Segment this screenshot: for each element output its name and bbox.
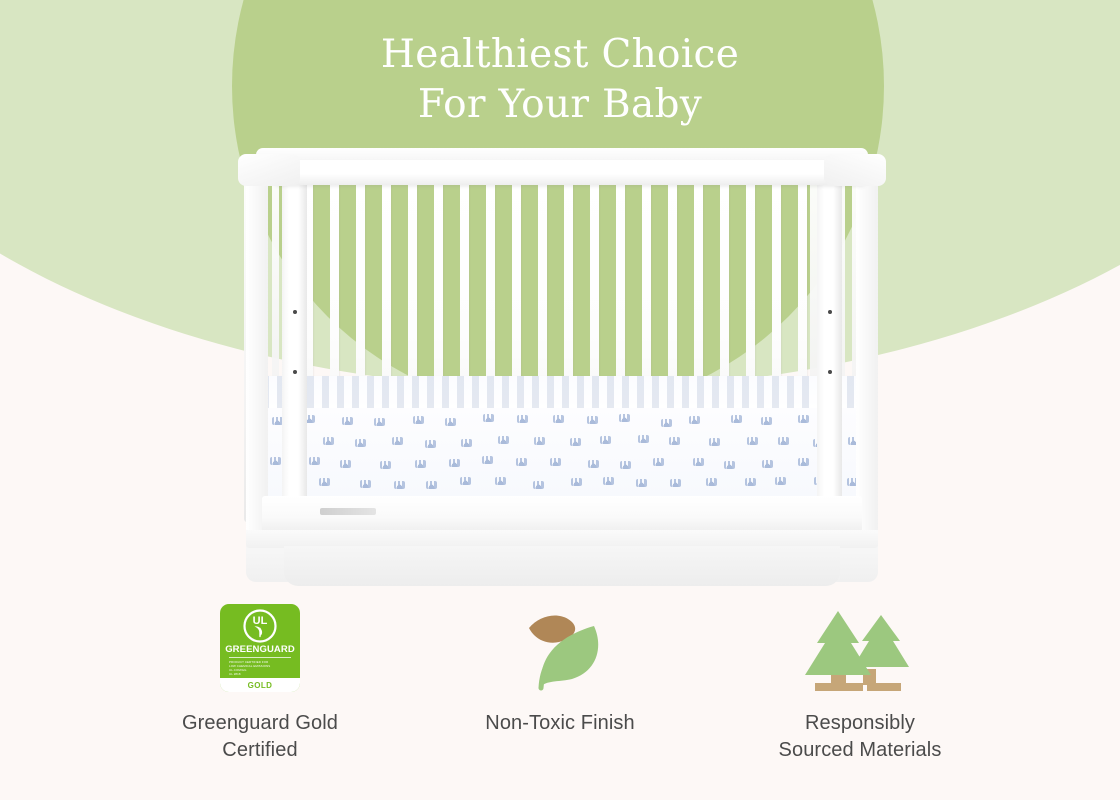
sheet-motif: [482, 456, 493, 464]
sheet-motif: [553, 415, 564, 423]
sheet-motif: [762, 460, 773, 468]
sheet-motif: [670, 479, 681, 487]
sheet-motif: [761, 417, 772, 425]
sheet-motif: [533, 481, 544, 489]
sheet-motif: [775, 477, 786, 485]
sheet-motif: [693, 458, 704, 466]
sheet-motif: [571, 478, 582, 486]
sheet-motif: [600, 436, 611, 444]
feature-icon-wrap: [508, 600, 612, 696]
sheet-motif: [270, 457, 281, 465]
sheet-motif: [745, 478, 756, 486]
promo-banner: Healthiest Choice For Your Baby: [0, 0, 1120, 800]
sheet-motif: [460, 477, 471, 485]
sheet-motif: [534, 437, 545, 445]
sheet-motif: [483, 414, 494, 422]
sheet-motif: [661, 419, 672, 427]
crib-left-upright: [246, 162, 268, 540]
feature-caption-line-1: Responsibly: [779, 710, 942, 737]
sheet-motif: [425, 440, 436, 448]
crib-front-top-rail: [272, 160, 868, 185]
mattress-top-surface: [262, 376, 862, 408]
sheet-motif: [319, 478, 330, 486]
feature-icon-wrap: UL GREENGUARD PRODUCT CERTIFIED FOR LOW …: [220, 600, 300, 696]
badge-fine-print: PRODUCT CERTIFIED FOR LOW CHEMICAL EMISS…: [229, 660, 291, 676]
feature-greenguard: UL GREENGUARD PRODUCT CERTIFIED FOR LOW …: [110, 600, 410, 764]
sheet-motif: [669, 437, 680, 445]
crib-right-post-cap: [824, 154, 886, 186]
product-label-sticker: [320, 508, 376, 515]
sheet-motif: [392, 437, 403, 445]
sheet-motif: [516, 458, 527, 466]
feature-caption-line-1: Greenguard Gold: [182, 710, 338, 737]
page-title: Healthiest Choice For Your Baby: [0, 30, 1120, 130]
feature-caption: Non-Toxic Finish: [485, 710, 634, 737]
sheet-motif: [355, 439, 366, 447]
sheet-motif: [461, 439, 472, 447]
sheet-motif: [309, 457, 320, 465]
sheet-motif: [587, 416, 598, 424]
sheet-motif: [619, 414, 630, 422]
sheet-motif: [724, 461, 735, 469]
sheet-motif: [517, 415, 528, 423]
sheet-pattern: [262, 408, 862, 496]
mattress-height-hole: [828, 370, 832, 374]
sheet-motif: [413, 416, 424, 424]
sheet-motif: [620, 461, 631, 469]
fine-print-line: UL 2818: [229, 672, 291, 676]
mattress-height-hole: [293, 310, 297, 314]
sheet-motif: [445, 418, 456, 426]
sheet-motif: [449, 459, 460, 467]
two-leaves-icon: [508, 602, 612, 694]
sheet-motif: [323, 437, 334, 445]
feature-caption: Greenguard Gold Certified: [182, 710, 338, 764]
badge-level-label: GOLD: [220, 678, 300, 692]
feature-responsible-sourcing: Responsibly Sourced Materials: [710, 600, 1010, 764]
sheet-motif: [340, 460, 351, 468]
sheet-motif: [798, 415, 809, 423]
feature-icon-wrap: [801, 600, 919, 696]
feature-caption-line-2: Sourced Materials: [779, 737, 942, 764]
headline-line-1: Healthiest Choice: [0, 30, 1120, 80]
sheet-motif: [653, 458, 664, 466]
sheet-motif: [342, 417, 353, 425]
sheet-motif: [380, 461, 391, 469]
headline-line-2: For Your Baby: [0, 80, 1120, 130]
sheet-motif: [374, 418, 385, 426]
feature-caption: Responsibly Sourced Materials: [779, 710, 942, 764]
feature-non-toxic: Non-Toxic Finish: [410, 600, 710, 737]
sheet-motif: [426, 481, 437, 489]
feature-caption-line-1: Non-Toxic Finish: [485, 710, 634, 737]
sheet-motif: [603, 477, 614, 485]
crib-product-image: [232, 148, 892, 596]
ul-mark-icon: UL: [243, 609, 277, 643]
mattress-height-hole: [828, 310, 832, 314]
feature-caption-line-2: Certified: [182, 737, 338, 764]
sheet-motif: [550, 458, 561, 466]
greenguard-gold-badge-icon: UL GREENGUARD PRODUCT CERTIFIED FOR LOW …: [220, 604, 300, 692]
mattress-height-hole: [293, 370, 297, 374]
sheet-motif: [636, 479, 647, 487]
sheet-motif: [798, 458, 809, 466]
feature-list: UL GREENGUARD PRODUCT CERTIFIED FOR LOW …: [0, 600, 1120, 800]
sheet-motif: [709, 438, 720, 446]
sheet-motif: [689, 416, 700, 424]
pine-trees-icon: [801, 601, 919, 695]
sheet-motif: [498, 436, 509, 444]
sheet-motif: [394, 481, 405, 489]
sheet-motif: [360, 480, 371, 488]
sheet-motif: [495, 477, 506, 485]
crib-left-post-cap: [238, 154, 300, 186]
crib-right-upright: [856, 162, 878, 540]
sheet-motif: [415, 460, 426, 468]
svg-text:UL: UL: [253, 615, 268, 627]
sheet-motif: [731, 415, 742, 423]
sheet-motif: [588, 460, 599, 468]
sheet-motif: [747, 437, 758, 445]
sheet-motif: [570, 438, 581, 446]
sheet-motif: [706, 478, 717, 486]
sheet-motif: [638, 435, 649, 443]
crib-mattress: [262, 376, 862, 496]
crib-right-corner-post: [817, 164, 842, 536]
crib-left-corner-post: [282, 164, 307, 536]
sheet-motif: [778, 437, 789, 445]
crib-plinth: [284, 546, 840, 586]
greenguard-wordmark: GREENGUARD: [225, 644, 295, 655]
badge-divider: [229, 657, 291, 658]
